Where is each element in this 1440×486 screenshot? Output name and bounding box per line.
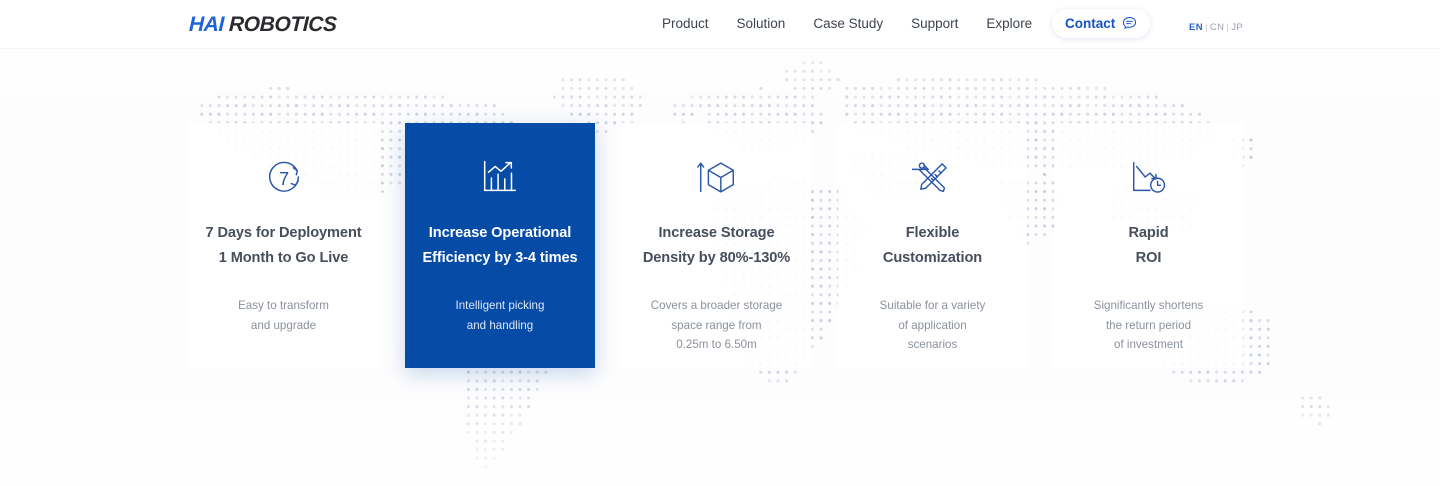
card-desc-line-1: Intelligent picking	[456, 296, 545, 316]
box-up-arrow-icon	[694, 149, 740, 205]
card-desc-line-3: scenarios	[880, 335, 986, 355]
language-separator-1: |	[1205, 22, 1208, 33]
card-title-line-2: Density by 80%-130%	[643, 246, 790, 271]
language-separator-2: |	[1226, 22, 1229, 33]
card-desc-line-1: Easy to transform	[238, 296, 329, 316]
nav-item-case-study[interactable]: Case Study	[799, 0, 897, 48]
site-header: HAI ROBOTICS Product Solution Case Study…	[0, 0, 1440, 48]
contact-button-label: Contact	[1065, 16, 1115, 31]
nav-item-support[interactable]: Support	[897, 0, 972, 48]
language-option-cn[interactable]: CN	[1210, 22, 1225, 33]
logo-text-robotics: ROBOTICS	[229, 14, 337, 35]
feature-cards: 7 7 Days for Deployment 1 Month to Go Li…	[189, 123, 1244, 368]
card-desc-line-2: of application	[880, 316, 986, 336]
card-title: Flexible Customization	[877, 221, 988, 270]
pencil-ruler-icon	[912, 149, 954, 205]
card-desc-line-2: and handling	[456, 316, 545, 336]
card-title-line-2: Customization	[883, 246, 982, 271]
card-title-line-2: Efficiency by 3-4 times	[422, 246, 577, 271]
card-desc-line-3: of investment	[1094, 335, 1204, 355]
card-desc-line-2: and upgrade	[238, 316, 329, 336]
card-title-line-1: Increase Operational	[422, 221, 577, 246]
card-title-line-1: 7 Days for Deployment	[205, 221, 361, 246]
nav-item-product[interactable]: Product	[648, 0, 723, 48]
card-description: Suitable for a variety of application sc…	[866, 296, 1000, 355]
nav-item-explore[interactable]: Explore	[972, 0, 1046, 48]
declining-chart-clock-icon	[1127, 149, 1171, 205]
card-title-line-1: Rapid	[1128, 221, 1168, 246]
card-storage-density[interactable]: Increase Storage Density by 80%-130% Cov…	[622, 123, 811, 368]
language-switcher[interactable]: EN|CN|JP	[1189, 22, 1243, 33]
card-title-line-2: ROI	[1128, 246, 1168, 271]
bar-chart-uptrend-icon	[478, 149, 522, 205]
contact-button[interactable]: Contact	[1052, 9, 1150, 38]
card-title: Increase Operational Efficiency by 3-4 t…	[416, 221, 583, 270]
card-description: Intelligent picking and handling	[442, 296, 559, 335]
card-desc-line-3: 0.25m to 6.50m	[651, 335, 782, 355]
logo-text-hai: HAI	[189, 14, 225, 35]
card-deployment[interactable]: 7 7 Days for Deployment 1 Month to Go Li…	[189, 123, 378, 368]
card-desc-line-1: Significantly shortens	[1094, 296, 1204, 316]
card-title-line-2: 1 Month to Go Live	[205, 246, 361, 271]
svg-text:7: 7	[278, 169, 288, 189]
card-desc-line-1: Covers a broader storage	[651, 296, 782, 316]
seven-in-circular-arrow-icon: 7	[263, 149, 305, 205]
card-title-line-1: Increase Storage	[643, 221, 790, 246]
card-operational-efficiency[interactable]: Increase Operational Efficiency by 3-4 t…	[405, 123, 595, 368]
chat-bubble-icon	[1122, 16, 1137, 31]
card-rapid-roi[interactable]: Rapid ROI Significantly shortens the ret…	[1054, 123, 1243, 368]
card-title: 7 Days for Deployment 1 Month to Go Live	[199, 221, 367, 270]
logo[interactable]: HAI ROBOTICS	[189, 14, 337, 35]
card-title-line-1: Flexible	[883, 221, 982, 246]
card-title: Increase Storage Density by 80%-130%	[637, 221, 796, 270]
card-flexible-customization[interactable]: Flexible Customization Suitable for a va…	[838, 123, 1027, 368]
card-description: Easy to transform and upgrade	[224, 296, 343, 335]
nav-item-solution[interactable]: Solution	[723, 0, 800, 48]
page-root: HAI ROBOTICS Product Solution Case Study…	[0, 0, 1440, 486]
language-option-jp[interactable]: JP	[1231, 22, 1243, 33]
language-option-en[interactable]: EN	[1189, 22, 1203, 33]
card-desc-line-2: the return period	[1094, 316, 1204, 336]
card-description: Covers a broader storage space range fro…	[637, 296, 796, 355]
card-desc-line-1: Suitable for a variety	[880, 296, 986, 316]
card-title: Rapid ROI	[1122, 221, 1174, 270]
card-desc-line-2: space range from	[651, 316, 782, 336]
card-description: Significantly shortens the return period…	[1080, 296, 1218, 355]
